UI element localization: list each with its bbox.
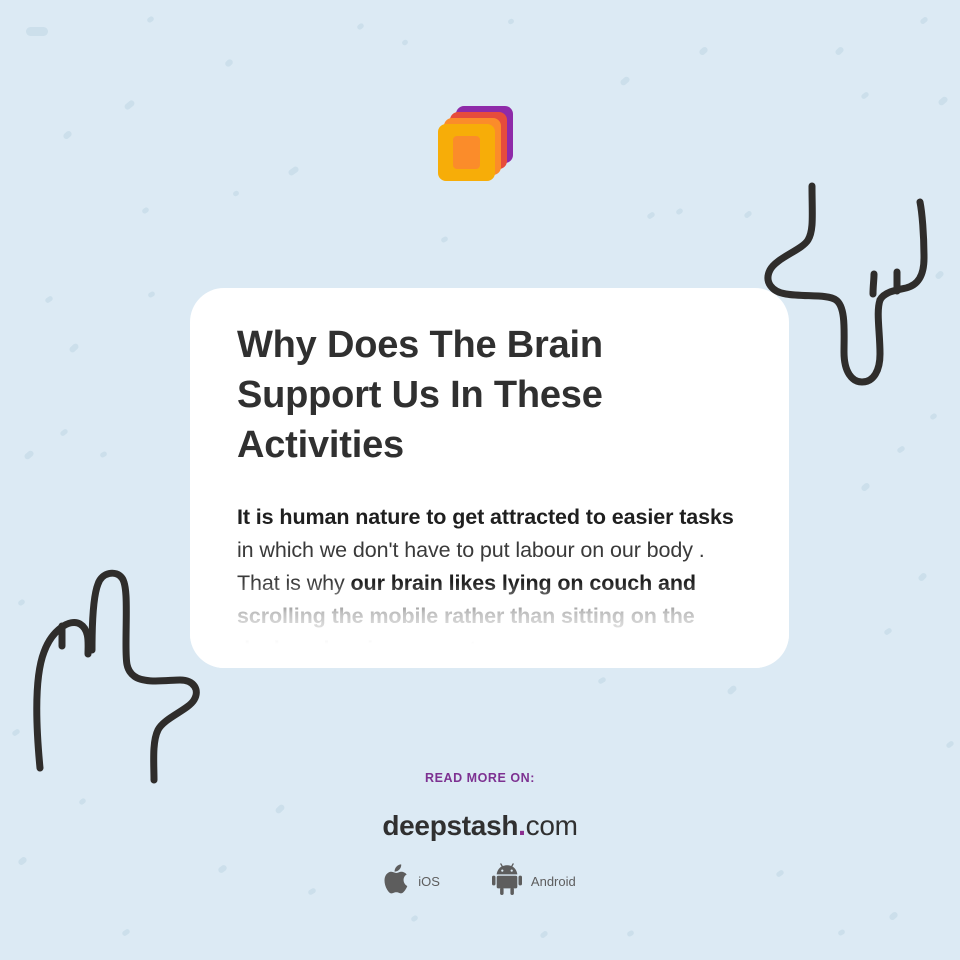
confetti-dash	[26, 27, 48, 36]
confetti-dash	[539, 930, 548, 939]
confetti-dash	[356, 22, 365, 30]
confetti-dash	[837, 929, 846, 937]
confetti-dash	[597, 676, 606, 684]
wordmark-dot: .	[518, 810, 525, 841]
confetti-dash	[287, 165, 299, 176]
confetti-dash	[860, 482, 871, 492]
confetti-dash	[937, 95, 949, 106]
confetti-dash	[934, 270, 945, 281]
confetti-dash	[626, 930, 635, 938]
confetti-dash	[743, 210, 752, 219]
confetti-dash	[883, 627, 892, 636]
logo-svg	[425, 100, 525, 200]
android-label: Android	[531, 874, 576, 889]
wordmark-name: deepstash	[382, 810, 518, 841]
confetti-dash	[860, 91, 869, 100]
read-more-label: READ MORE ON:	[0, 771, 960, 785]
app-store-badges: iOS Android	[0, 863, 960, 900]
confetti-dash	[675, 207, 684, 215]
confetti-dash	[698, 46, 709, 56]
confetti-dash	[410, 914, 419, 922]
deepstash-logo	[425, 100, 525, 200]
confetti-dash	[929, 412, 938, 420]
article-card-content: Why Does The Brain Support Us In These A…	[190, 288, 789, 666]
confetti-dash	[917, 572, 928, 583]
apple-icon-svg	[384, 864, 409, 894]
confetti-dash	[507, 18, 515, 25]
confetti-dash	[59, 428, 68, 437]
apple-icon	[384, 864, 409, 899]
deepstash-wordmark[interactable]: deepstash.com	[0, 810, 960, 842]
confetti-dash	[834, 46, 845, 57]
confetti-dash	[646, 211, 655, 220]
ios-badge[interactable]: iOS	[384, 864, 440, 899]
confetti-dash	[44, 295, 53, 304]
page-title: Why Does The Brain Support Us In These A…	[237, 318, 742, 470]
android-icon-svg	[492, 863, 522, 895]
confetti-dash	[17, 598, 26, 606]
article-body-bold-lead: It is human nature to get attracted to e…	[237, 505, 734, 529]
article-card: Why Does The Brain Support Us In These A…	[190, 288, 789, 668]
confetti-dash	[99, 451, 108, 459]
android-badge[interactable]: Android	[492, 863, 576, 900]
confetti-dash	[896, 445, 905, 454]
confetti-dash	[78, 797, 87, 805]
confetti-dash	[888, 911, 899, 921]
article-body: It is human nature to get attracted to e…	[237, 470, 742, 666]
confetti-dash	[147, 291, 156, 299]
confetti-dash	[726, 684, 737, 695]
confetti-dash	[232, 190, 240, 197]
confetti-dash	[121, 928, 130, 937]
confetti-dash	[401, 39, 409, 47]
confetti-dash	[62, 130, 73, 140]
android-icon	[492, 863, 522, 900]
confetti-dash	[123, 99, 135, 111]
confetti-dash	[945, 740, 954, 749]
confetti-dash	[224, 58, 234, 68]
confetti-dash	[440, 236, 449, 244]
confetti-dash	[146, 15, 155, 23]
confetti-dash	[919, 16, 928, 25]
confetti-dash	[68, 342, 79, 353]
confetti-dash	[23, 449, 35, 460]
confetti-dash	[141, 206, 150, 214]
wordmark-tld: com	[526, 810, 578, 841]
confetti-dash	[619, 75, 631, 86]
poster-canvas: Why Does The Brain Support Us In These A…	[0, 0, 960, 960]
confetti-dash	[11, 728, 20, 737]
ios-label: iOS	[418, 874, 440, 889]
